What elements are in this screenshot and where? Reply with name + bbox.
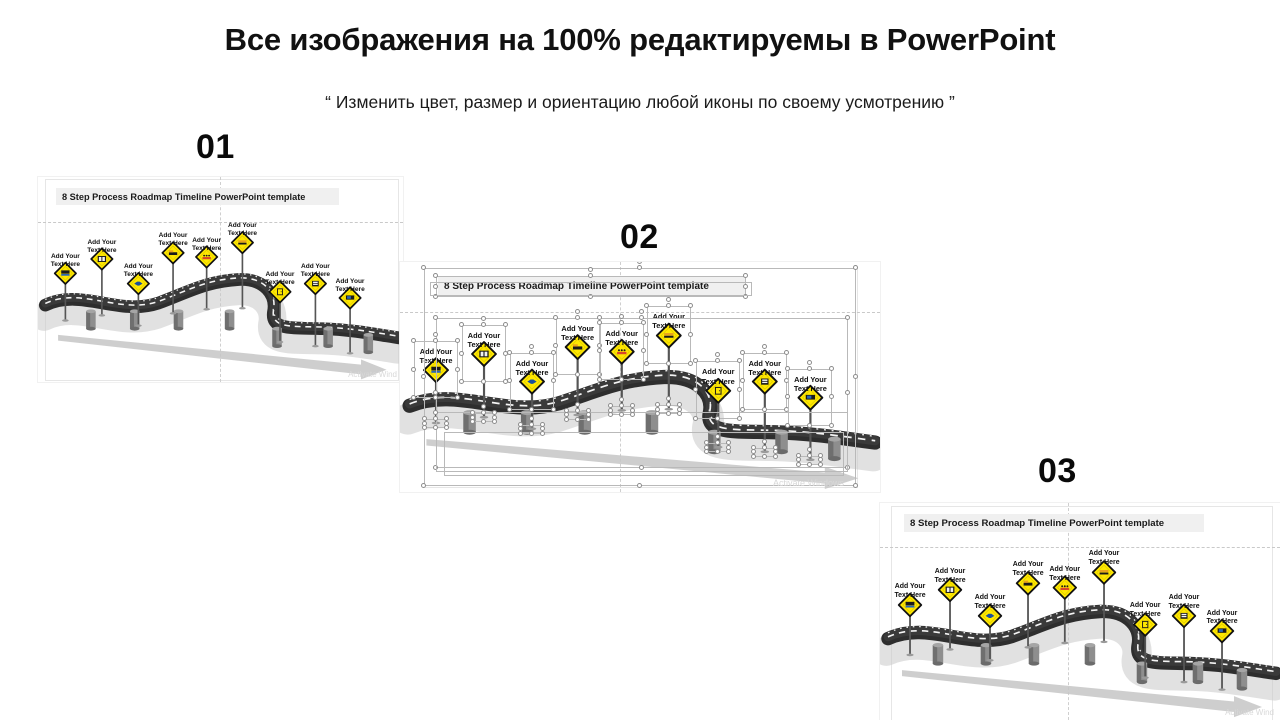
sign-label-line1: Add Your [228,222,257,230]
sign-label: Add YourText Here [561,324,594,342]
sign-label-line2: Text Here [335,286,364,294]
sign-label-line2: Text Here [1012,570,1043,579]
sign-label: Add YourText Here [748,359,781,377]
sign-label: Add YourText Here [468,331,501,349]
sign-label-line1: Add Your [1012,561,1043,570]
sign-label-line2: Text Here [301,271,330,279]
sign-label-line1: Add Your [974,594,1005,603]
sign-label-line1: Add Your [51,253,80,261]
sign-label: Add YourText Here [934,568,965,585]
sign-label-line1: Add Your [1206,610,1237,619]
sign-label-line1: Add Your [748,359,781,368]
sign-label-line2: Text Here [1049,575,1080,584]
sign-label-line1: Add Your [420,347,453,356]
sign-label: Add YourText Here [1049,566,1080,583]
sign-label-line1: Add Your [192,237,221,245]
sign-label-line2: Text Here [420,356,453,365]
sign-label: Add YourText Here [420,347,453,365]
sign-label-line1: Add Your [894,583,925,592]
thumbnail-canvas-02: 8 Step Process Roadmap Timeline PowerPoi… [400,262,880,492]
page-subtitle: “ Изменить цвет, размер и ориентацию люб… [0,92,1280,113]
sign-label-line2: Text Here [605,338,638,347]
slide-thumbnail-01[interactable]: 8 Step Process Roadmap Timeline PowerPoi… [38,177,403,382]
slide-thumbnail-02[interactable]: 8 Step Process Roadmap Timeline PowerPoi… [400,262,880,492]
sign-label-line2: Text Here [1206,618,1237,627]
sign-label: Add YourText Here [335,278,364,294]
sign-label: Add YourText Here [87,239,116,255]
sign-label-line1: Add Your [1088,550,1119,559]
sign-label-line1: Add Your [87,239,116,247]
sign-label: Add YourText Here [974,594,1005,611]
sign-label-line2: Text Here [228,230,257,238]
sign-label-line1: Add Your [605,329,638,338]
sign-label: Add YourText Here [1168,594,1199,611]
sign-label-line2: Text Here [748,368,781,377]
sign-label-line2: Text Here [87,247,116,255]
sign-label: Add YourText Here [301,263,330,279]
page-title: Все изображения на 100% редактируемы в P… [0,22,1280,58]
sign-label: Add YourText Here [192,237,221,253]
sign-label: Add YourText Here [1130,602,1161,619]
sign-label: Add YourText Here [158,232,187,248]
sign-label-line1: Add Your [468,331,501,340]
activate-windows-watermark-03: Activate Wind [1225,708,1274,717]
sign-label-line1: Add Your [561,324,594,333]
sign-label-line1: Add Your [1130,602,1161,611]
sign-label: Add YourText Here [1088,550,1119,567]
sign-label-line2: Text Here [192,245,221,253]
sign-label-line2: Text Here [794,384,827,393]
sign-label-line1: Add Your [516,359,549,368]
sign-label-line2: Text Here [934,577,965,586]
sign-label-line2: Text Here [1088,559,1119,568]
thumbnail-canvas-01: 8 Step Process Roadmap Timeline PowerPoi… [38,177,403,382]
sign-label: Add YourText Here [652,312,685,330]
sign-label: Add YourText Here [51,253,80,269]
sign-label: Add YourText Here [702,367,735,385]
sign-label-line2: Text Here [1130,611,1161,620]
sign-label-line2: Text Here [1168,603,1199,612]
sign-label-line2: Text Here [265,279,294,287]
sign-label: Add YourText Here [894,583,925,600]
sign-label: Add YourText Here [265,271,294,287]
sign-label-line1: Add Your [702,367,735,376]
sign-label-line1: Add Your [794,375,827,384]
sign-label: Add YourText Here [124,263,153,279]
activate-windows-watermark-01: Activate Wind [348,370,397,379]
sign-label: Add YourText Here [605,329,638,347]
sign-label-line1: Add Your [265,271,294,279]
step-number-01: 01 [196,128,235,167]
sign-label-line2: Text Here [51,261,80,269]
sign-label-line2: Text Here [974,603,1005,612]
activate-windows-watermark-02: Activate Windows [773,478,844,488]
step-number-03: 03 [1038,452,1077,491]
sign-label-line2: Text Here [894,592,925,601]
sign-label-line2: Text Here [652,321,685,330]
sign-label-line1: Add Your [652,312,685,321]
slide-thumbnail-03[interactable]: 8 Step Process Roadmap Timeline PowerPoi… [880,503,1280,720]
sign-label-line2: Text Here [516,368,549,377]
sign-label: Add YourText Here [228,222,257,238]
thumbnail-canvas-03: 8 Step Process Roadmap Timeline PowerPoi… [880,503,1280,720]
sign-label-line1: Add Your [1049,566,1080,575]
sign-label-line2: Text Here [468,340,501,349]
sign-label-line1: Add Your [301,263,330,271]
sign-label-line1: Add Your [158,232,187,240]
sign-label: Add YourText Here [794,375,827,393]
sign-label-line2: Text Here [158,240,187,248]
sign-label: Add YourText Here [1206,610,1237,627]
sign-label-line1: Add Your [124,263,153,271]
sign-label: Add YourText Here [516,359,549,377]
sign-label-line1: Add Your [934,568,965,577]
sign-label: Add YourText Here [1012,561,1043,578]
sign-label-line2: Text Here [124,271,153,279]
sign-label-line1: Add Your [1168,594,1199,603]
sign-label-line2: Text Here [561,333,594,342]
sign-label-line1: Add Your [335,278,364,286]
sign-label-line2: Text Here [702,377,735,386]
step-number-02: 02 [620,218,659,257]
